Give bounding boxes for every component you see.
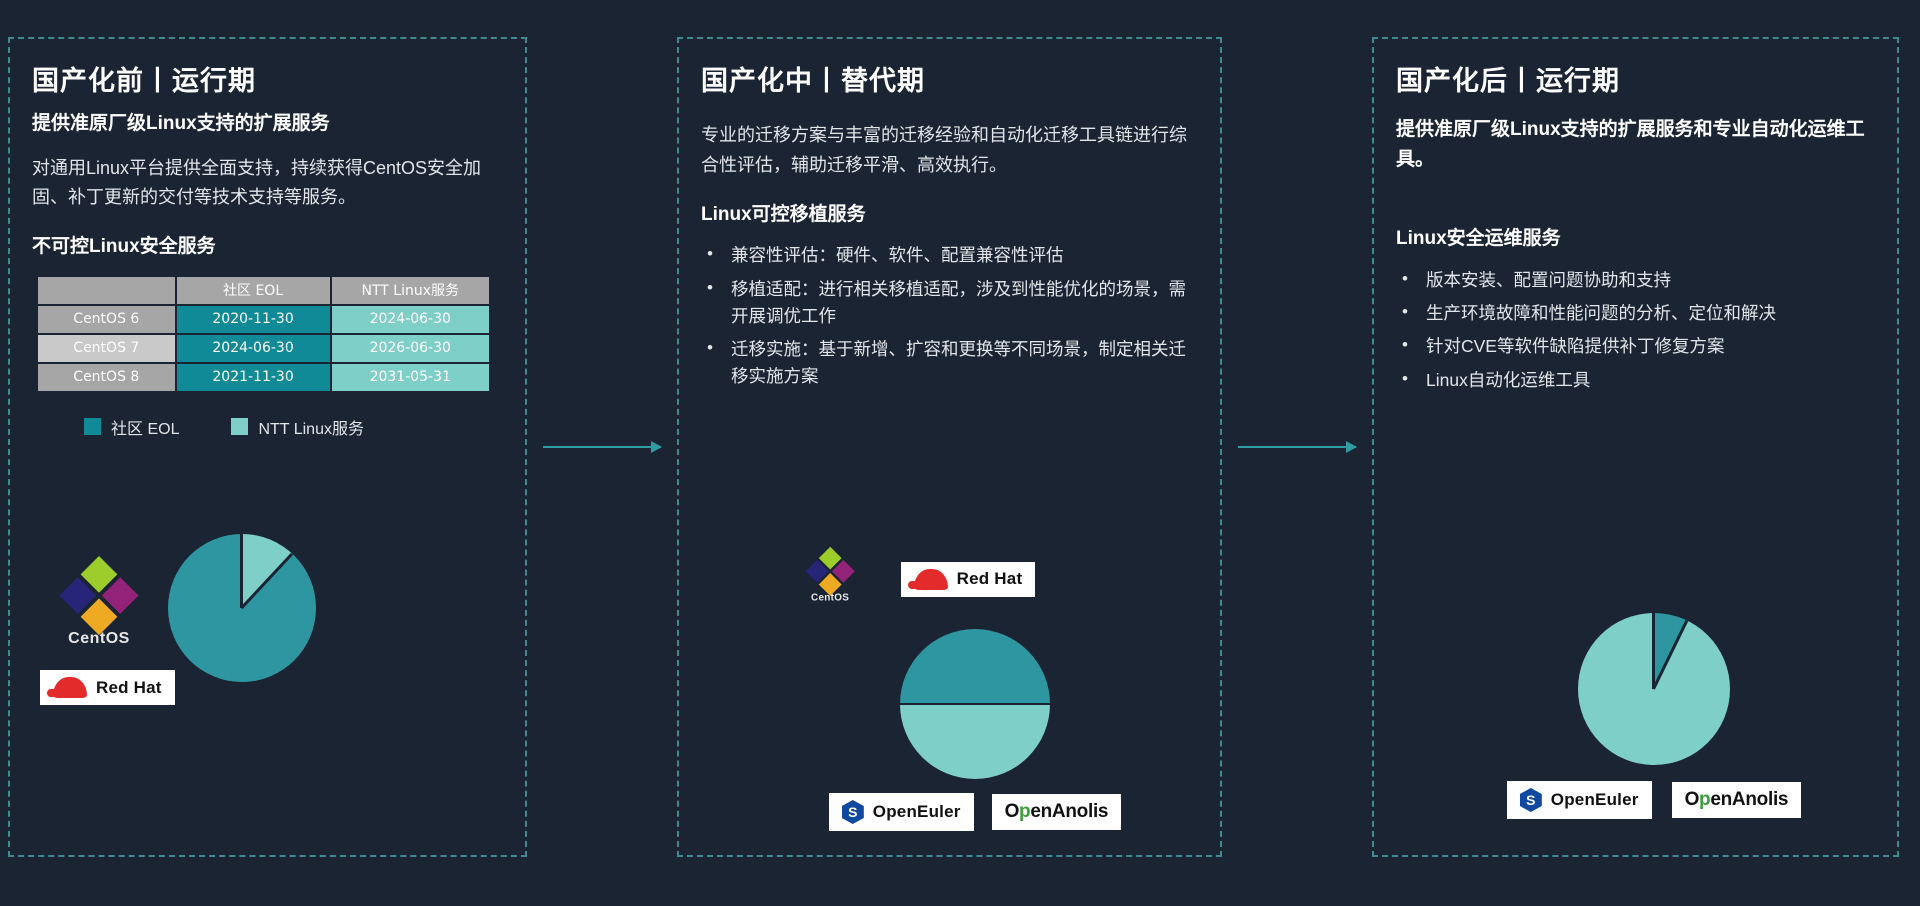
table-row: CentOS 7 2024-06-30 2026-06-30 bbox=[38, 335, 489, 362]
panel-during-localization: 国产化中丨替代期 专业的迁移方案与丰富的迁移经验和自动化迁移工具链进行综合性评估… bbox=[677, 37, 1222, 857]
table-col-blank bbox=[38, 277, 175, 304]
redhat-logo: Red Hat bbox=[901, 562, 1036, 597]
centos-eol-table: 社区 EOL NTT Linux服务 CentOS 6 2020-11-30 2… bbox=[36, 275, 491, 393]
panel3-paragraph: 提供准原厂级Linux支持的扩展服务和专业自动化运维工具。 bbox=[1396, 115, 1875, 174]
redhat-icon bbox=[914, 569, 948, 590]
list-item: 版本安装、配置问题协助和支持 bbox=[1396, 267, 1875, 294]
redhat-logo-text: Red Hat bbox=[957, 569, 1023, 589]
legend-item-ntt: NTT Linux服务 bbox=[231, 415, 364, 439]
panel1-graphics: CentOS Red Hat bbox=[32, 534, 502, 769]
pie-gap-top bbox=[1652, 613, 1655, 689]
openeuler-icon bbox=[1520, 788, 1542, 812]
openanolis-p: p bbox=[1699, 789, 1710, 810]
openanolis-rest: enAnolis bbox=[1710, 789, 1788, 810]
centos-logo: CentOS bbox=[40, 568, 158, 648]
table-cell-ntt: 2024-06-30 bbox=[332, 306, 489, 333]
pie-slices bbox=[168, 534, 316, 682]
redhat-logo: Red Hat bbox=[40, 670, 175, 705]
table-cell-ntt: 2026-06-30 bbox=[332, 335, 489, 362]
pie-slices bbox=[1578, 613, 1730, 765]
table-row: CentOS 8 2021-11-30 2031-05-31 bbox=[38, 364, 489, 391]
table-col-eol: 社区 EOL bbox=[177, 277, 330, 304]
panel-after-localization: 国产化后丨运行期 提供准原厂级Linux支持的扩展服务和专业自动化运维工具。 L… bbox=[1372, 37, 1899, 857]
centos-logo: CentOS bbox=[811, 554, 849, 604]
openanolis-logo-text: OpenAnolis bbox=[1005, 801, 1109, 823]
list-item: 兼容性评估：硬件、软件、配置兼容性评估 bbox=[701, 242, 1198, 269]
table-cell-os: CentOS 7 bbox=[38, 335, 175, 362]
table-cell-eol: 2021-11-30 bbox=[177, 364, 330, 391]
panel1-paragraph: 对通用Linux平台提供全面支持，持续获得CentOS安全加固、补丁更新的交付等… bbox=[32, 154, 503, 212]
list-item: 移植适配：进行相关移植适配，涉及到性能优化的场景，需开展调优工作 bbox=[701, 276, 1198, 331]
pie-legend: 社区 EOL NTT Linux服务 bbox=[84, 415, 503, 439]
panel2-bottom-logos: OpenEuler OpenAnolis bbox=[775, 793, 1175, 831]
slide-canvas: 国产化前丨运行期 提供准原厂级Linux支持的扩展服务 对通用Linux平台提供… bbox=[0, 0, 1920, 906]
legend-label-ntt: NTT Linux服务 bbox=[258, 415, 364, 439]
openanolis-logo: OpenAnolis bbox=[992, 794, 1122, 830]
panel3-title: 国产化后丨运行期 bbox=[1396, 65, 1875, 97]
redhat-icon bbox=[53, 677, 87, 698]
table-col-ntt: NTT Linux服务 bbox=[332, 277, 489, 304]
arrow-2-container bbox=[1222, 37, 1372, 857]
pie-gap-equator bbox=[900, 703, 1050, 705]
openanolis-o: O bbox=[1005, 801, 1019, 822]
panel1-section-head: 不可控Linux安全服务 bbox=[32, 234, 503, 261]
table-cell-ntt: 2031-05-31 bbox=[332, 364, 489, 391]
openeuler-logo-text: OpenEuler bbox=[1551, 790, 1639, 810]
pie-gap-split bbox=[240, 553, 293, 609]
openanolis-logo-text: OpenAnolis bbox=[1685, 789, 1789, 811]
table-cell-os: CentOS 8 bbox=[38, 364, 175, 391]
panel2-paragraph: 专业的迁移方案与丰富的迁移经验和自动化迁移工具链进行综合性评估，辅助迁移平滑、高… bbox=[701, 121, 1198, 179]
arrow-right-icon bbox=[543, 446, 661, 448]
openanolis-o: O bbox=[1685, 789, 1699, 810]
openeuler-icon bbox=[842, 800, 864, 824]
pie-chart-before bbox=[168, 534, 316, 682]
centos-icon bbox=[805, 547, 856, 598]
pie-gap-top bbox=[240, 534, 243, 608]
panel3-graphics: OpenEuler OpenAnolis bbox=[1454, 613, 1854, 819]
openanolis-logo: OpenAnolis bbox=[1672, 782, 1802, 818]
pie-chart-after bbox=[1454, 613, 1854, 765]
legend-swatch-eol bbox=[84, 418, 101, 435]
pie-gap-split bbox=[1652, 620, 1688, 690]
table-cell-os: CentOS 6 bbox=[38, 306, 175, 333]
panel2-title: 国产化中丨替代期 bbox=[701, 65, 1198, 97]
legend-item-eol: 社区 EOL bbox=[84, 415, 179, 439]
panel2-graphics: CentOS Red Hat OpenEuler Ope bbox=[775, 539, 1175, 831]
panel1-title: 国产化前丨运行期 bbox=[32, 65, 503, 97]
panel1-subtitle: 提供准原厂级Linux支持的扩展服务 bbox=[32, 110, 503, 138]
panel1-logo-column: CentOS Red Hat bbox=[40, 568, 158, 705]
legend-swatch-ntt bbox=[231, 418, 248, 435]
openanolis-p: p bbox=[1019, 801, 1030, 822]
panel2-bullets: 兼容性评估：硬件、软件、配置兼容性评估 移植适配：进行相关移植适配，涉及到性能优… bbox=[701, 242, 1198, 390]
list-item: 生产环境故障和性能问题的分析、定位和解决 bbox=[1396, 300, 1875, 327]
panel-before-localization: 国产化前丨运行期 提供准原厂级Linux支持的扩展服务 对通用Linux平台提供… bbox=[8, 37, 527, 857]
list-item: 针对CVE等软件缺陷提供补丁修复方案 bbox=[1396, 333, 1875, 360]
pie-slices bbox=[900, 629, 1050, 779]
panel3-bullets: 版本安装、配置问题协助和支持 生产环境故障和性能问题的分析、定位和解决 针对CV… bbox=[1396, 267, 1875, 394]
openanolis-rest: enAnolis bbox=[1030, 801, 1108, 822]
table-header-row: 社区 EOL NTT Linux服务 bbox=[38, 277, 489, 304]
list-item: 迁移实施：基于新增、扩容和更换等不同场景，制定相关迁移实施方案 bbox=[701, 336, 1198, 391]
redhat-logo-text: Red Hat bbox=[96, 678, 162, 698]
table-cell-eol: 2024-06-30 bbox=[177, 335, 330, 362]
centos-icon bbox=[58, 556, 140, 638]
arrow-1-container bbox=[527, 37, 677, 857]
table-row: CentOS 6 2020-11-30 2024-06-30 bbox=[38, 306, 489, 333]
panel3-section-head: Linux安全运维服务 bbox=[1396, 226, 1875, 253]
openeuler-logo-text: OpenEuler bbox=[873, 802, 961, 822]
pie-chart-during bbox=[775, 629, 1175, 779]
panel2-top-logos: CentOS Red Hat bbox=[811, 539, 1175, 619]
list-item: Linux自动化运维工具 bbox=[1396, 367, 1875, 394]
panel3-logos: OpenEuler OpenAnolis bbox=[1454, 781, 1854, 819]
openeuler-logo: OpenEuler bbox=[829, 793, 974, 831]
arrow-right-icon bbox=[1238, 446, 1356, 448]
panel2-section-head: Linux可控移植服务 bbox=[701, 202, 1198, 229]
openeuler-logo: OpenEuler bbox=[1507, 781, 1652, 819]
table-cell-eol: 2020-11-30 bbox=[177, 306, 330, 333]
legend-label-eol: 社区 EOL bbox=[111, 415, 179, 439]
